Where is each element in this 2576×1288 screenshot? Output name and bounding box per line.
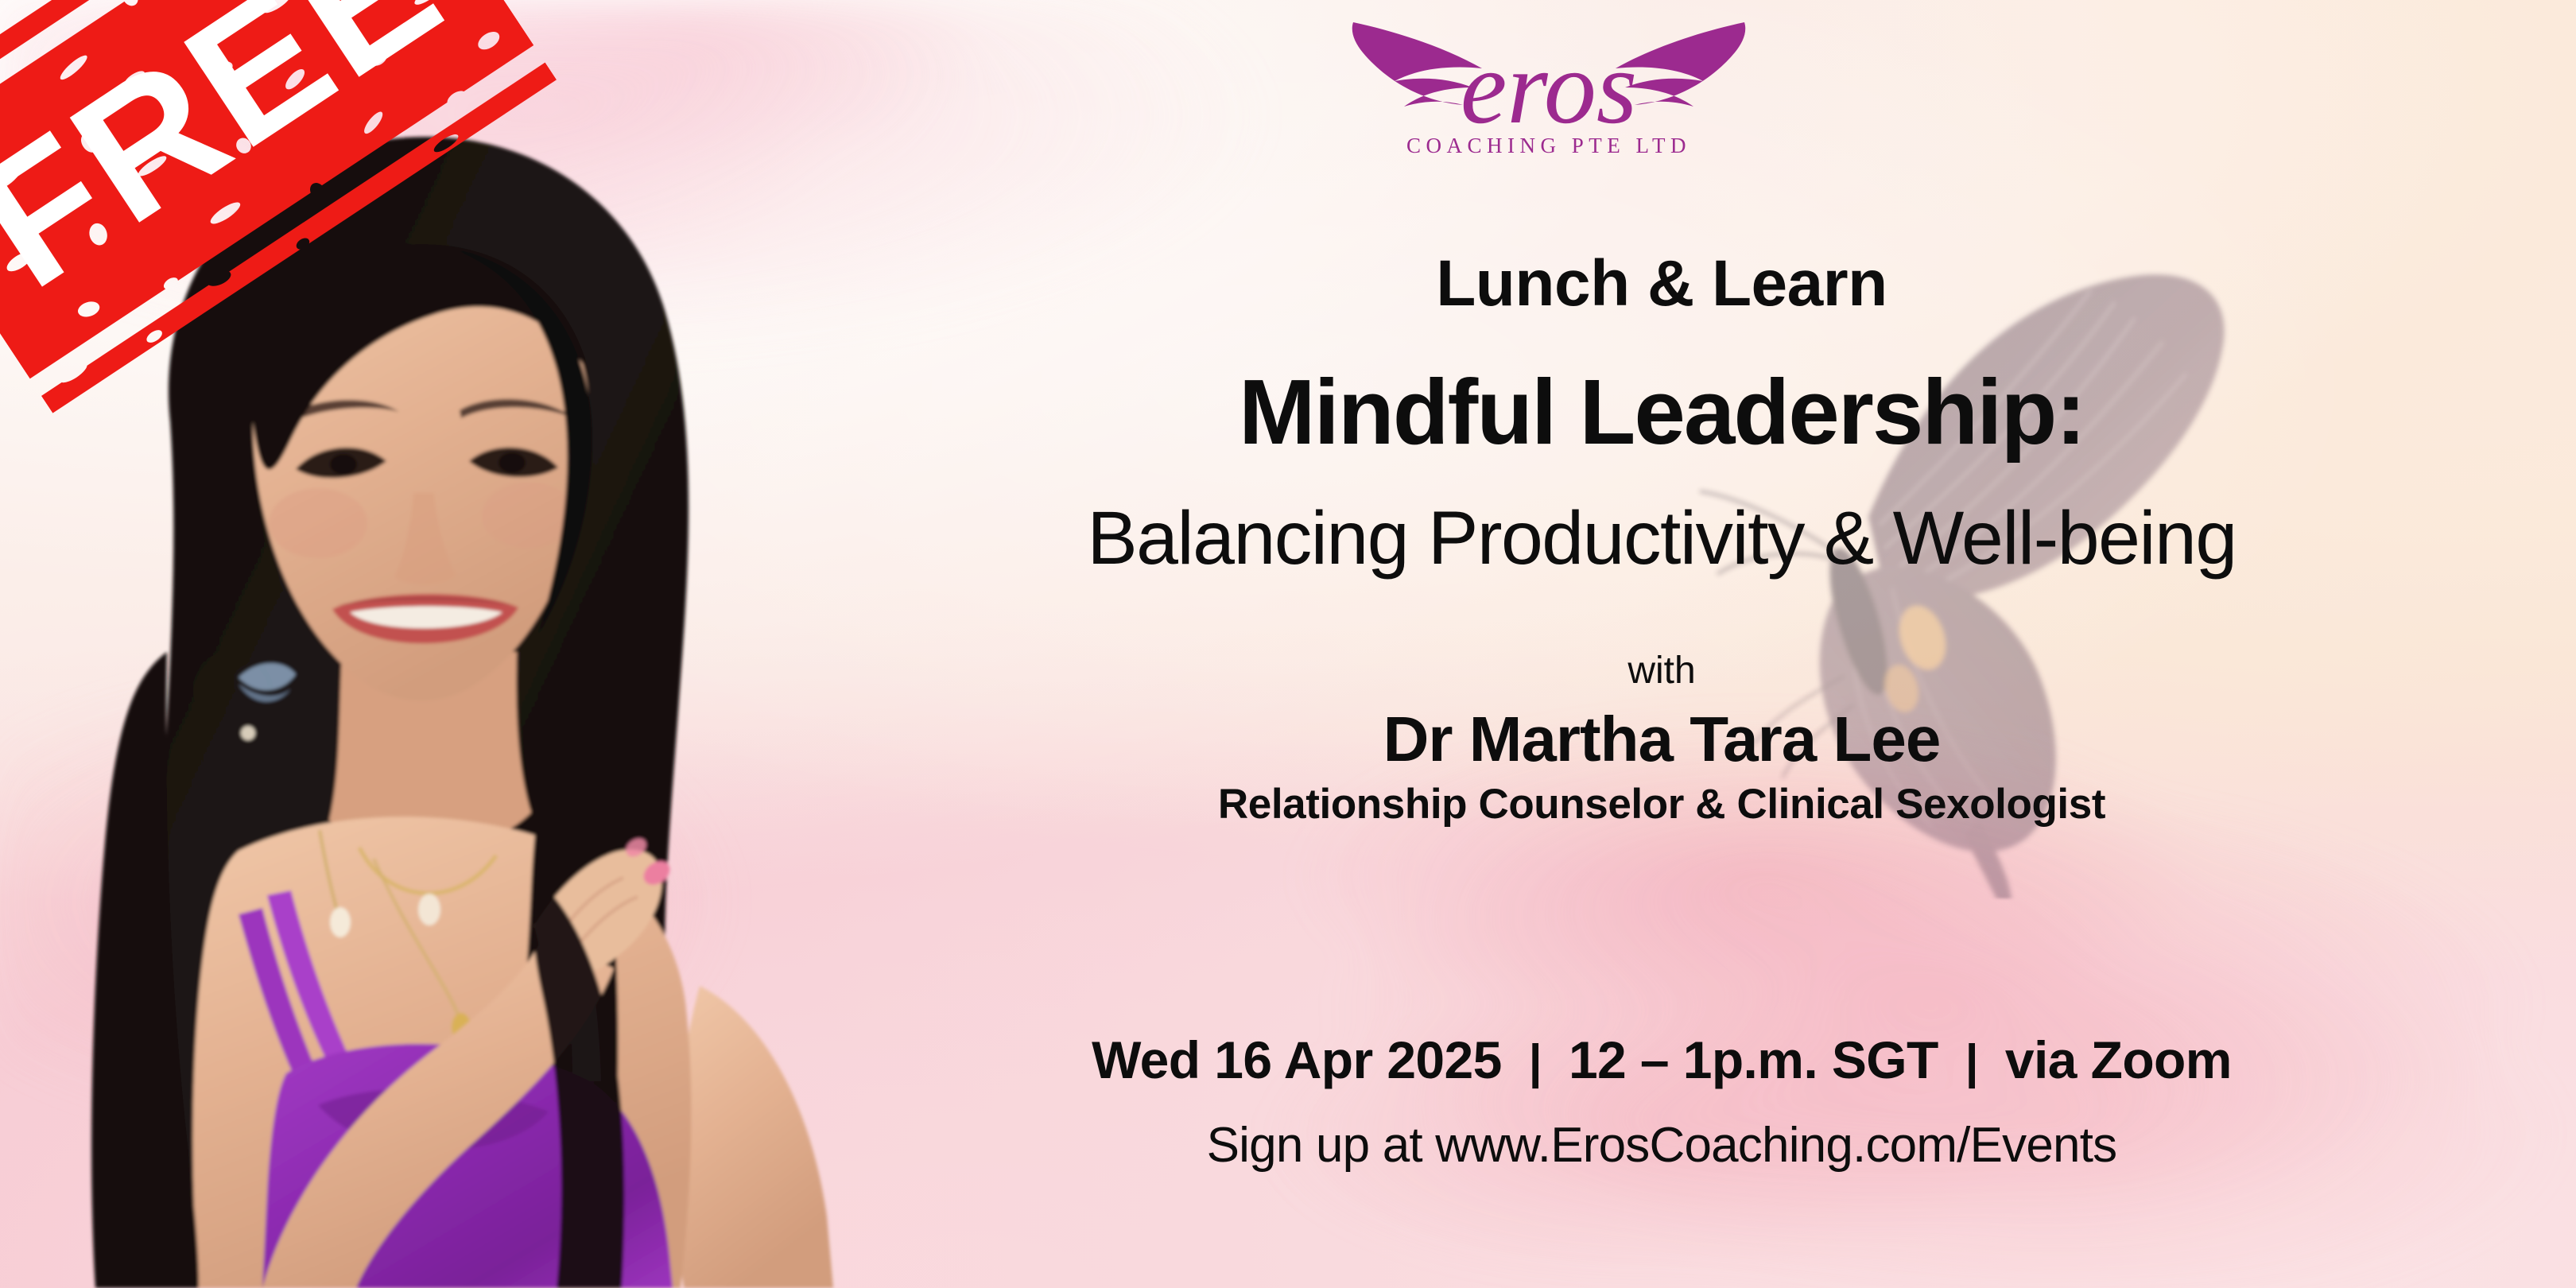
detail-separator-1: | xyxy=(1502,1038,1569,1086)
signup-link[interactable]: Sign up at www.ErosCoaching.com/Events xyxy=(978,1121,2345,1170)
event-time: 12 – 1p.m. SGT xyxy=(1569,1034,1938,1086)
page-title: Mindful Leadership: xyxy=(978,366,2345,458)
event-details: Wed 16 Apr 2025 | 12 – 1p.m. SGT | via Z… xyxy=(978,1034,2345,1086)
with-label: with xyxy=(978,652,2345,690)
speaker-credential: Relationship Counselor & Clinical Sexolo… xyxy=(978,783,2345,825)
event-date: Wed 16 Apr 2025 xyxy=(1092,1034,1502,1086)
promotional-banner: FREE eros COACHING PTE LTD Lunch & Learn… xyxy=(0,0,2576,1288)
detail-separator-2: | xyxy=(1938,1038,2005,1086)
subtitle-text: Balancing Productivity & Well-being xyxy=(978,501,2345,576)
eyebrow-text: Lunch & Learn xyxy=(978,251,2345,316)
event-platform: via Zoom xyxy=(2005,1034,2232,1086)
content-block: Lunch & Learn Mindful Leadership: Balanc… xyxy=(978,0,2345,1288)
speaker-name: Dr Martha Tara Lee xyxy=(978,708,2345,771)
